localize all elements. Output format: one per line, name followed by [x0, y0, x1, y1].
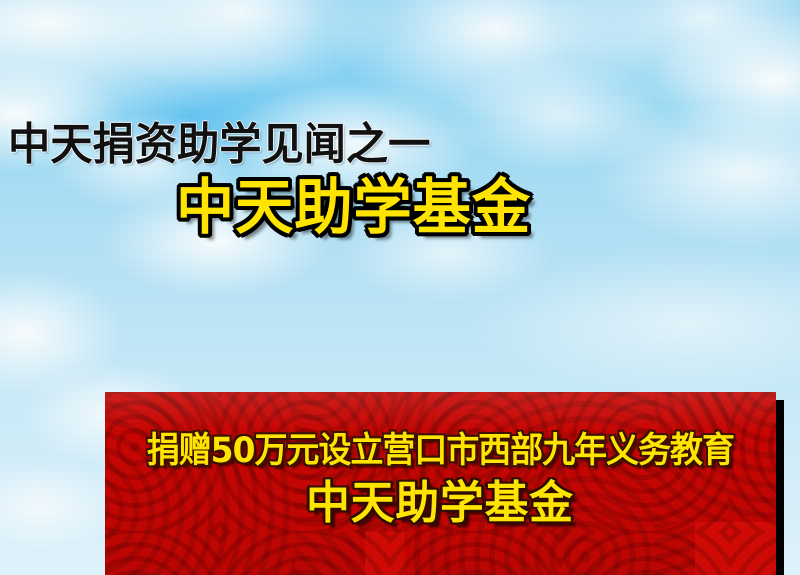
banner-headline-line-1: 捐赠50万元设立营口市西部九年义务教育	[147, 434, 734, 469]
banner-text-block: 捐赠50万元设立营口市西部九年义务教育 中天助学基金	[105, 392, 776, 575]
banner-headline-line-2: 中天助学基金	[307, 480, 575, 525]
slide-canvas: 中天捐资助学见闻之一 中天助学基金 捐赠50万元设立营口市西部九年义务教育 中天…	[0, 0, 800, 575]
page-title-secondary: 中天助学基金	[176, 178, 531, 238]
page-title-primary: 中天捐资助学见闻之一	[8, 123, 430, 167]
red-banner: 捐赠50万元设立营口市西部九年义务教育 中天助学基金	[105, 392, 776, 575]
